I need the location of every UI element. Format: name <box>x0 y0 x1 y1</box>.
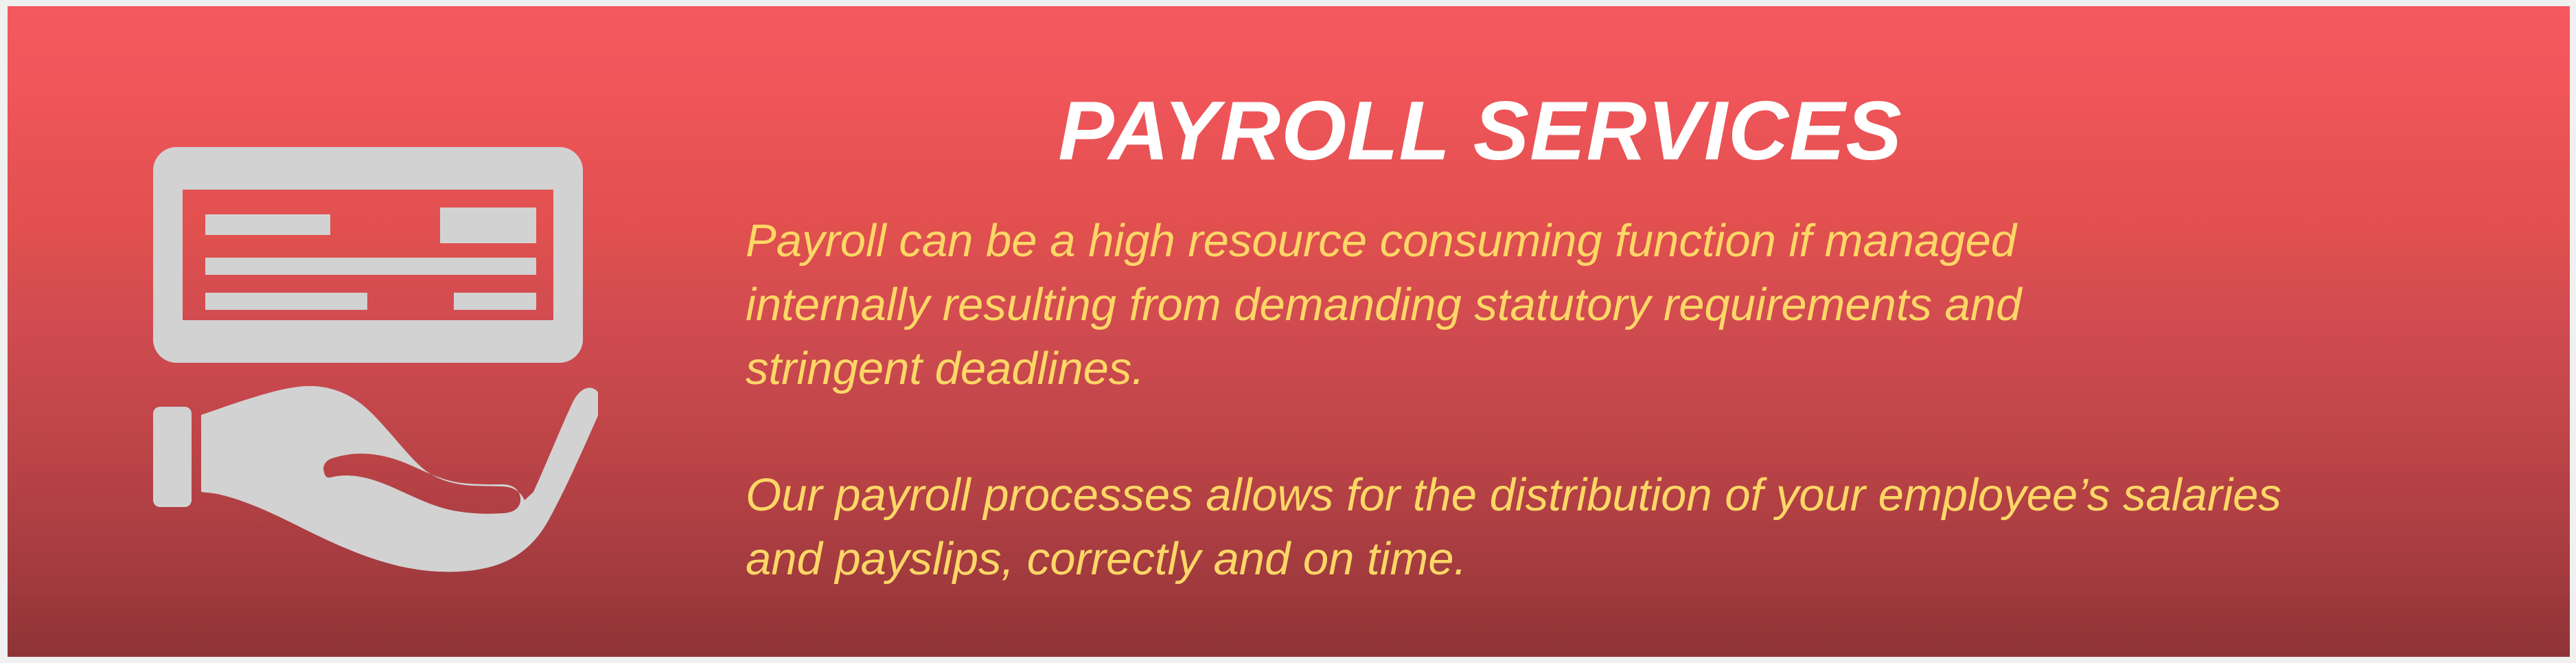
page-title: PAYROLL SERVICES <box>746 89 2503 172</box>
cheque-icon <box>153 147 583 363</box>
cheque-line-signature <box>454 293 536 310</box>
body-paragraph-1: Payroll can be a high resource consuming… <box>746 209 2146 401</box>
cheque-line-payee <box>205 214 330 235</box>
cheque-amount-box <box>440 207 536 243</box>
cheque-in-hand-icon-svg <box>145 133 598 587</box>
body-paragraph-2: Our payroll processes allows for the dis… <box>746 463 2332 591</box>
cheque-line-short <box>205 293 367 310</box>
cheque-in-hand-icon <box>145 133 598 587</box>
gradient-background-panel: PAYROLL SERVICES Payroll can be a high r… <box>8 6 2570 657</box>
open-hand-icon <box>201 386 598 572</box>
sleeve-cuff-icon <box>153 407 192 507</box>
text-content-block: PAYROLL SERVICES Payroll can be a high r… <box>746 89 2503 591</box>
payroll-services-banner: PAYROLL SERVICES Payroll can be a high r… <box>0 0 2576 663</box>
cheque-line-long <box>205 258 536 275</box>
